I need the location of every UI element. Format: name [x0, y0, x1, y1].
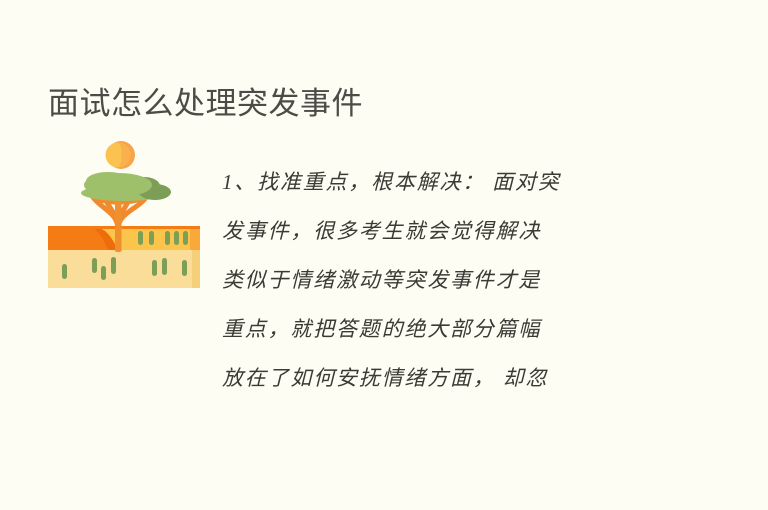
tree-canopy — [81, 172, 171, 201]
sun-icon — [106, 141, 136, 169]
body-line: 发事件，很多考生就会觉得解决 — [222, 207, 654, 256]
article-body: 1、找准重点，根本解决： 面对突 发事件，很多考生就会觉得解决 类似于情绪激动等… — [222, 158, 654, 403]
page-title: 面试怎么处理突发事件 — [48, 83, 363, 125]
body-line: 放在了如何安抚情绪方面， 却忽 — [222, 354, 654, 403]
tree-trunk-lower — [115, 226, 122, 252]
savanna-illustration — [48, 138, 200, 290]
article-page: 面试怎么处理突发事件 — [0, 0, 768, 510]
savanna-illustration-svg — [48, 138, 200, 290]
ground-top-line — [48, 226, 200, 229]
body-line: 1、找准重点，根本解决： 面对突 — [222, 158, 654, 207]
body-line: 类似于情绪激动等突发事件才是 — [222, 256, 654, 305]
body-line: 重点，就把答题的绝大部分篇幅 — [222, 305, 654, 354]
ground-lower-edge — [192, 250, 200, 288]
ground-lower-band — [48, 250, 200, 288]
ground-upper-edge — [190, 228, 200, 250]
